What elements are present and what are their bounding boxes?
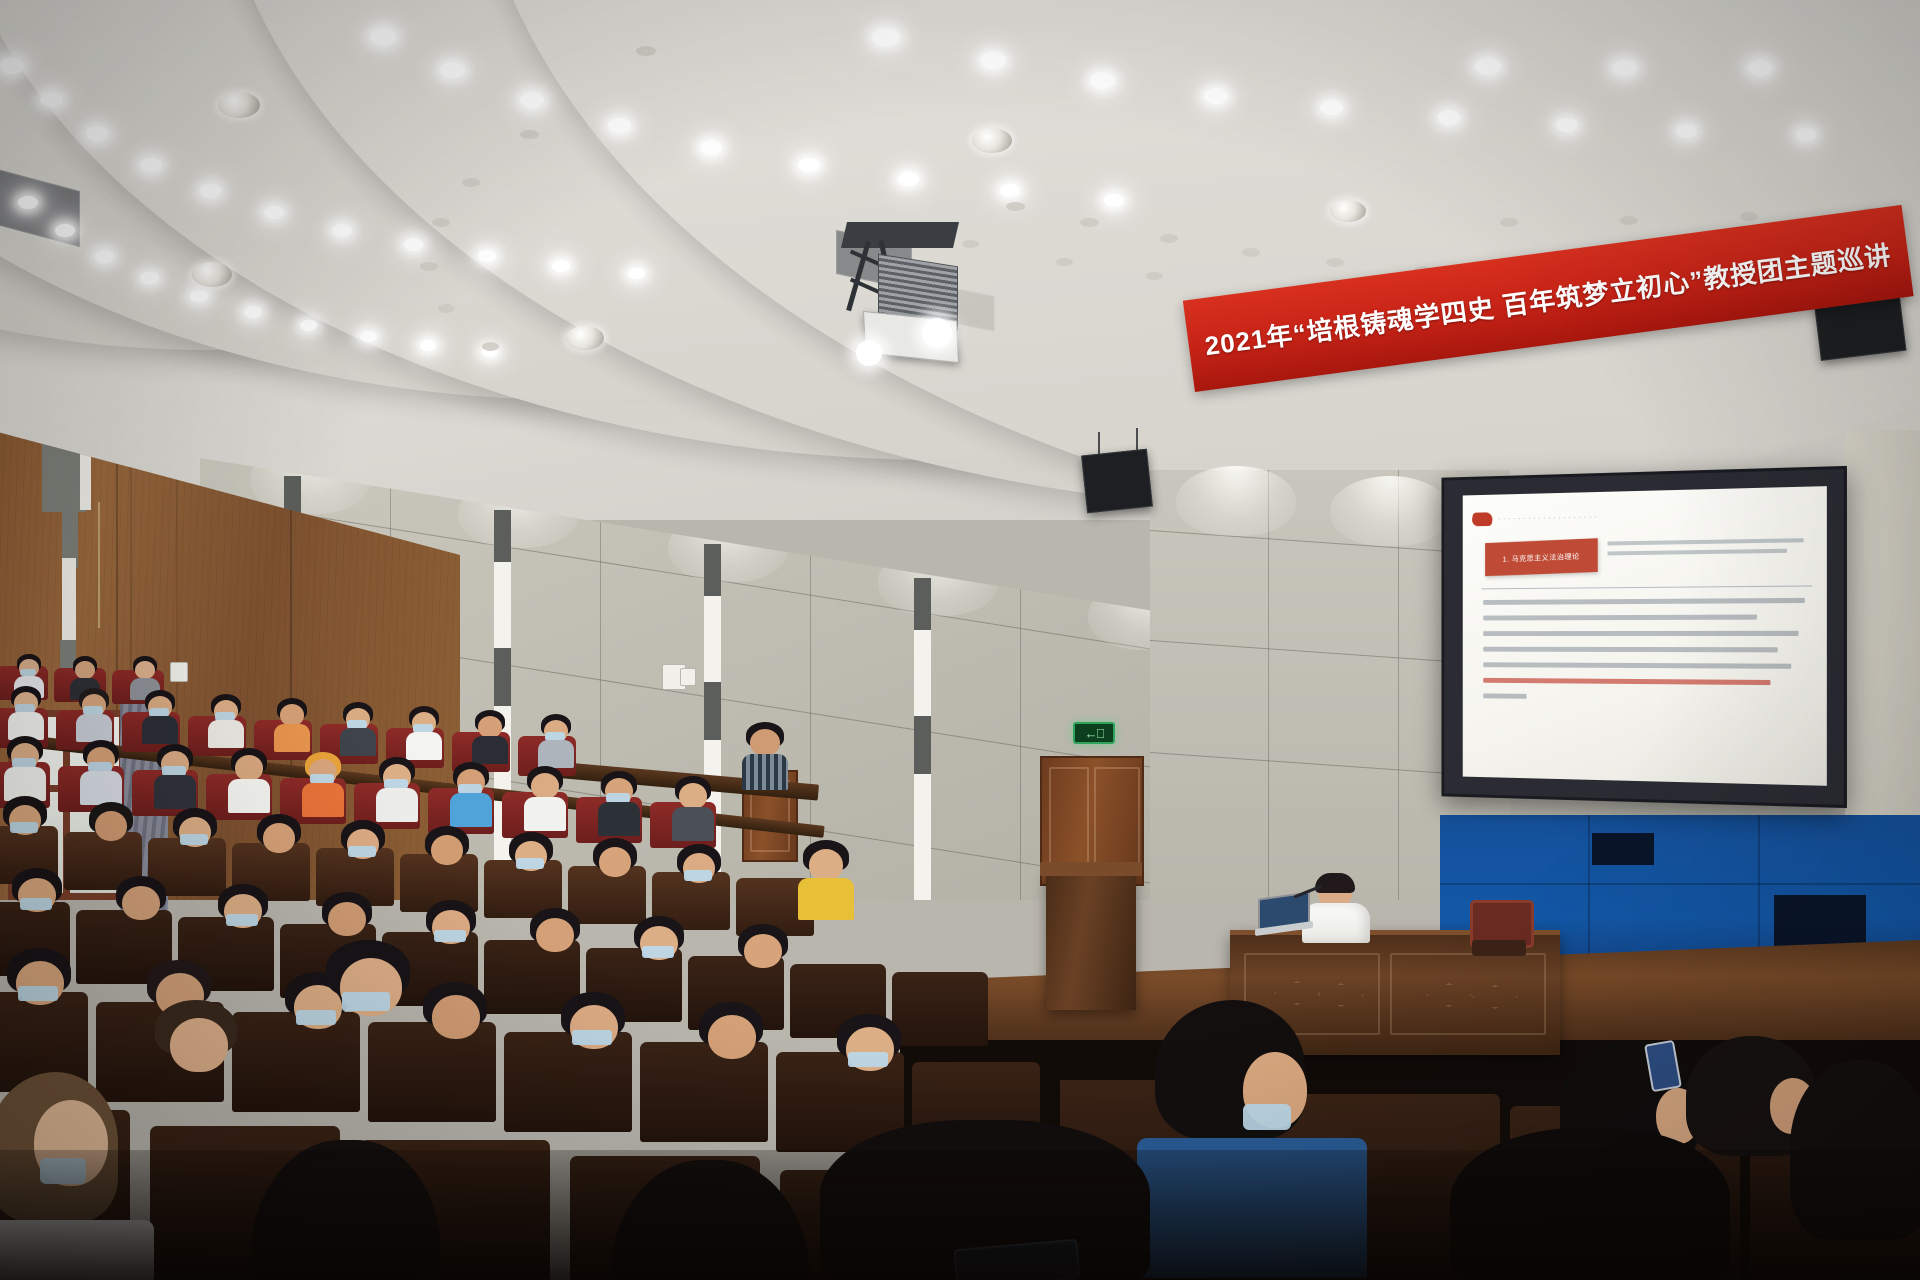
- list-item: [274, 698, 310, 742]
- red-flag-icon: [1471, 512, 1494, 526]
- ceiling-spotlight: [972, 128, 1012, 153]
- list-item: [4, 736, 46, 788]
- slide-body-text: [1483, 598, 1812, 713]
- stage-chair: [1470, 900, 1528, 974]
- list-item: [14, 654, 44, 688]
- slide-section-box: 1. 马克思主义法治理论: [1485, 538, 1598, 576]
- list-item: [254, 814, 304, 876]
- wall-accent-strip: [62, 558, 76, 642]
- wall-wash-light: [878, 546, 998, 616]
- list-item: [170, 808, 220, 870]
- list-item: [112, 876, 170, 946]
- list-item: [524, 766, 566, 818]
- list-item: [800, 840, 852, 912]
- slide-section-label: 1. 马克思主义法治理论: [1503, 550, 1580, 564]
- list-item: [130, 656, 160, 690]
- list-item: [208, 694, 244, 738]
- list-item: [742, 722, 788, 780]
- projection-screen: · · · · · · · · · · · · · · · · · · · · …: [1441, 466, 1846, 808]
- list-item: [418, 982, 492, 1072]
- list-item: [302, 752, 344, 804]
- list-item: [8, 868, 66, 938]
- list-item: [70, 656, 100, 690]
- list-item: [450, 762, 492, 814]
- list-item: [150, 1000, 242, 1116]
- list-item: [142, 690, 178, 734]
- slide-surface: · · · · · · · · · · · · · · · · · · · · …: [1463, 486, 1827, 786]
- list-item: [214, 884, 272, 954]
- list-item: [320, 940, 416, 1060]
- list-item: [338, 820, 388, 882]
- wall-accent-strip: [80, 454, 91, 510]
- ceiling-spotlight: [218, 92, 260, 118]
- hanging-speaker: [1081, 449, 1153, 514]
- list-item: [538, 714, 574, 758]
- slide-side-notes: [1608, 538, 1813, 561]
- list-item: [674, 844, 724, 906]
- list-item: [8, 686, 44, 730]
- list-item: [694, 1002, 768, 1092]
- list-item: [506, 832, 556, 894]
- ceiling-spotlight: [192, 262, 232, 287]
- list-item: [556, 992, 630, 1082]
- list-item: [376, 757, 418, 809]
- lecture-hall-photo: ←⎕ 2021年“培根铸魂学四史 百年筑梦立初心”教授团主题巡讲 · · · ·…: [0, 0, 1920, 1280]
- slide-title: · · · · · · · · · · · · · · · · · · · ·: [1498, 513, 1597, 522]
- list-item: [2, 948, 76, 1038]
- ceiling-projector-mount: [826, 222, 976, 362]
- ceiling-spotlight: [1330, 200, 1366, 222]
- list-item: [734, 924, 792, 994]
- hanging-cord: [98, 502, 100, 628]
- event-banner: 2021年“培根铸魂学四史 百年筑梦立初心”教授团主题巡讲: [1195, 300, 1920, 430]
- list-item: [422, 900, 480, 970]
- wall-wash-light: [668, 512, 788, 582]
- list-item: [590, 838, 640, 900]
- speaker-wire: [1098, 432, 1100, 456]
- list-item: [832, 1014, 906, 1104]
- list-item: [422, 826, 472, 888]
- foreground-shadow: [0, 1150, 1920, 1280]
- list-item: [598, 771, 640, 823]
- ceiling-spotlight: [566, 326, 604, 350]
- backdrop-panel: [1592, 833, 1654, 865]
- list-item: [526, 908, 584, 978]
- list-item: [80, 740, 122, 792]
- wall-wash-light: [1176, 466, 1296, 536]
- list-item: [0, 796, 50, 858]
- list-item: [340, 702, 376, 746]
- list-item: [228, 748, 270, 800]
- list-item: [630, 916, 688, 986]
- list-item: [154, 744, 196, 796]
- list-item: [76, 688, 112, 732]
- list-item: [406, 706, 442, 750]
- list-item: [86, 802, 136, 864]
- list-item: [672, 776, 714, 828]
- list-item: [472, 710, 508, 754]
- slide-divider: [1481, 585, 1812, 589]
- wall-wash-light: [1330, 476, 1450, 546]
